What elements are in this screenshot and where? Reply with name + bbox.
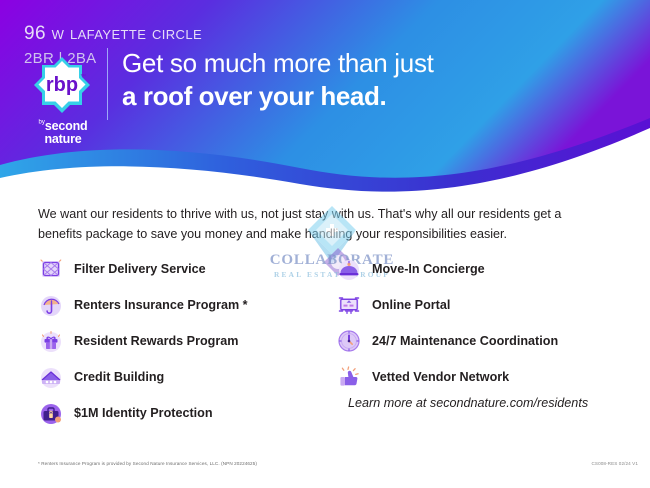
gift-icon (38, 328, 64, 354)
benefit-label: Filter Delivery Service (74, 262, 206, 276)
benefit-item-online-portal: Online Portal (336, 288, 626, 322)
benefit-label: Resident Rewards Program (74, 334, 238, 348)
headline-line-2: a roof over your head. (122, 81, 386, 112)
benefit-label: Credit Building (74, 370, 164, 384)
benefit-label: $1M Identity Protection (74, 406, 213, 420)
logotype-line2: nature (22, 133, 104, 146)
benefit-item-identity-protection: $1M Identity Protection (38, 396, 328, 430)
benefits-column-left: Filter Delivery Service Renters Insuranc… (38, 252, 328, 432)
credit-chart-icon (38, 364, 64, 390)
page-title: 96 W Lafayette Circle (24, 23, 202, 45)
concierge-bell-icon (336, 256, 362, 282)
intro-paragraph: We want our residents to thrive with us,… (38, 205, 598, 244)
footer-document-code: CS008-RES 02/24 V1 (592, 461, 639, 466)
benefit-label: Renters Insurance Program * (74, 298, 248, 312)
briefcase-lock-icon (38, 400, 64, 426)
benefit-item-credit-building: Credit Building (38, 360, 328, 394)
benefit-item-renters-insurance: Renters Insurance Program * (38, 288, 328, 322)
footer-disclaimer: * Renters Insurance Program is provided … (38, 461, 257, 466)
header-banner: 96 W Lafayette Circle 2BR | 2BA rbp ™ by… (0, 0, 650, 200)
svg-text:™: ™ (80, 73, 86, 80)
rbp-logo-badge: rbp ™ (30, 55, 94, 119)
thumbs-up-icon (336, 364, 362, 390)
benefits-column-right: Move-In Concierge Online Portal (336, 252, 626, 396)
benefit-label: Online Portal (372, 298, 450, 312)
benefit-label: 24/7 Maintenance Coordination (372, 334, 558, 348)
headline-line-1: Get so much more than just (122, 48, 434, 79)
umbrella-icon (38, 292, 64, 318)
logotype-line1: second (45, 119, 88, 133)
flyer-page: 96 W Lafayette Circle 2BR | 2BA rbp ™ by… (0, 0, 650, 488)
header-divider (107, 48, 108, 120)
benefit-item-filter-delivery: Filter Delivery Service (38, 252, 328, 286)
svg-text:rbp: rbp (46, 74, 78, 96)
benefit-item-vetted-vendor-network: Vetted Vendor Network (336, 360, 626, 394)
air-filter-icon (38, 256, 64, 282)
second-nature-logotype: bysecond nature (22, 118, 104, 146)
benefit-label: Move-In Concierge (372, 262, 485, 276)
benefit-item-move-in-concierge: Move-In Concierge (336, 252, 626, 286)
learn-more-link[interactable]: Learn more at secondnature.com/residents (348, 396, 588, 410)
clock-icon (336, 328, 362, 354)
benefit-item-maintenance-coordination: 24/7 Maintenance Coordination (336, 324, 626, 358)
benefit-label: Vetted Vendor Network (372, 370, 509, 384)
monitor-icon (336, 292, 362, 318)
benefit-item-resident-rewards: Resident Rewards Program (38, 324, 328, 358)
